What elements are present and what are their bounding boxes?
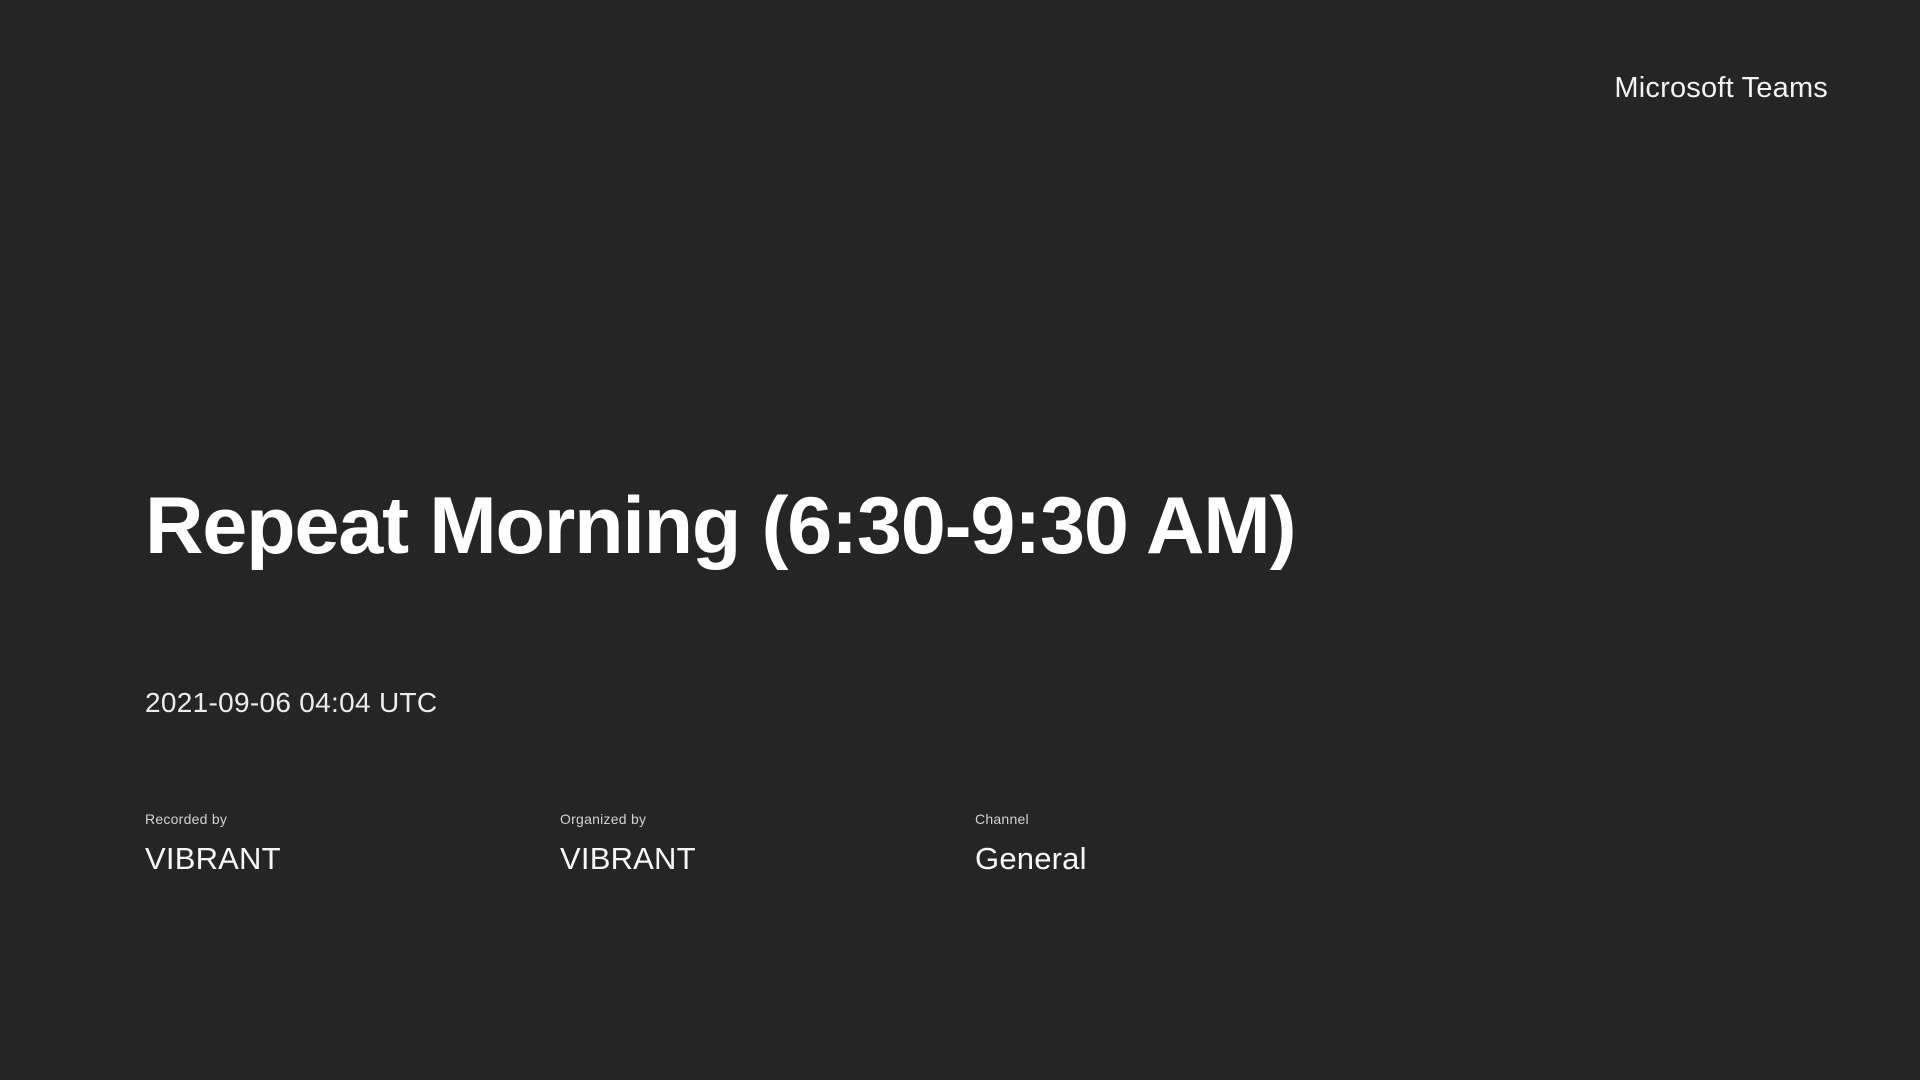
recording-title: Repeat Morning (6:30-9:30 AM) <box>145 484 1745 570</box>
recorded-by-label: Recorded by <box>145 812 560 826</box>
metadata-column-organized-by: Organized by VIBRANT <box>560 812 975 874</box>
recording-metadata-row: Recorded by VIBRANT Organized by VIBRANT… <box>145 812 1745 874</box>
metadata-column-recorded-by: Recorded by VIBRANT <box>145 812 560 874</box>
recorded-by-value: VIBRANT <box>145 843 560 874</box>
organized-by-value: VIBRANT <box>560 843 975 874</box>
microsoft-teams-brand-label: Microsoft Teams <box>1614 74 1828 103</box>
organized-by-label: Organized by <box>560 812 975 826</box>
channel-value: General <box>975 843 1390 874</box>
recording-title-card: Microsoft Teams Repeat Morning (6:30-9:3… <box>0 0 1920 1080</box>
recording-info-block: Repeat Morning (6:30-9:30 AM) 2021-09-06… <box>145 484 1745 874</box>
channel-label: Channel <box>975 812 1390 826</box>
recording-timestamp: 2021-09-06 04:04 UTC <box>145 689 1745 717</box>
metadata-column-channel: Channel General <box>975 812 1390 874</box>
